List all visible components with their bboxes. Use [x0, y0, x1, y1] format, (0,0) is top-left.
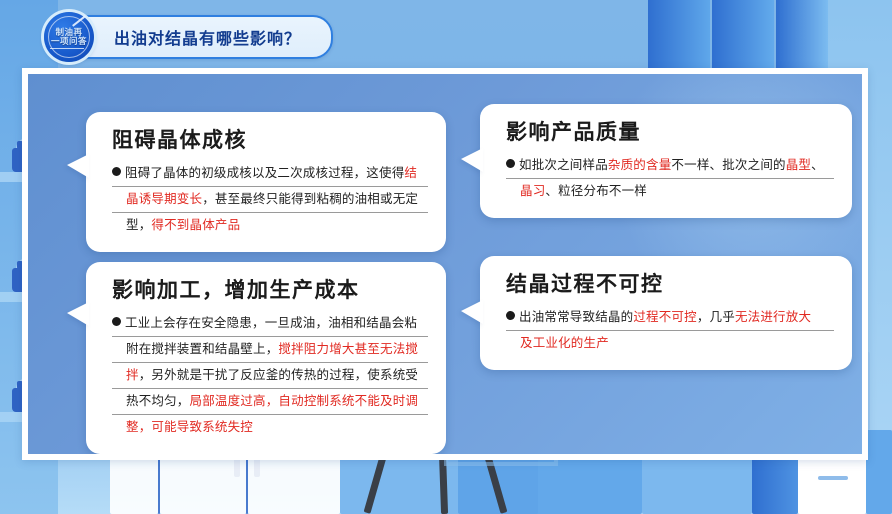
- highlighted-text: 无法进行放大: [735, 310, 811, 324]
- body-text: 附在搅拌装置和结晶壁上，: [126, 342, 278, 356]
- card-title: 影响加工，增加生产成本: [112, 274, 428, 304]
- highlighted-text: 局部温度过高，自动控制系统不能及时调: [190, 394, 419, 408]
- card-text-line: 工业上会存在安全隐患，一旦成油，油相和结晶会粘: [112, 311, 428, 337]
- card-title: 影响产品质量: [506, 116, 834, 146]
- card-text-line: 型，得不到晶体产品: [112, 213, 428, 238]
- highlighted-text: 晶型: [786, 158, 811, 172]
- highlighted-text: 晶诱导期变长: [126, 192, 202, 206]
- floor-panel: [110, 458, 158, 514]
- card-text-line: 附在搅拌装置和结晶壁上，搅拌阻力增大甚至无法搅: [112, 337, 428, 363]
- body-text: 不一样、批次之间的: [671, 158, 785, 172]
- body-text: 、粒径分布不一样: [545, 184, 647, 198]
- body-text: 型，: [126, 218, 151, 232]
- highlighted-text: 过程不可控: [633, 310, 697, 324]
- card-text-line: 热不均匀，局部温度过高，自动控制系统不能及时调: [112, 389, 428, 415]
- body-text: ，几乎: [697, 310, 735, 324]
- body-text: 出油常常导致结晶的: [519, 310, 633, 324]
- card-line-list: 阻碍了晶体的初级成核以及二次成核过程，这使得结晶诱导期变长，甚至最终只能得到粘稠…: [112, 161, 428, 238]
- floor-panel: [248, 458, 340, 514]
- badge-logo-line2: 一项问答: [51, 37, 87, 46]
- card-body: 阻碍了晶体的初级成核以及二次成核过程，这使得结晶诱导期变长，甚至最终只能得到粘稠…: [112, 161, 428, 238]
- card-text-line: 晶习、粒径分布不一样: [506, 179, 834, 204]
- cabinet-handle: [818, 476, 848, 480]
- highlighted-text: 杂质的含量: [608, 158, 672, 172]
- body-text: 、: [811, 158, 824, 172]
- brand-badge-icon: 制油再 一项问答: [44, 12, 94, 62]
- body-text: ，甚至最终只能得到粘稠的油相或无定: [202, 192, 418, 206]
- card-tail-icon: [461, 148, 483, 172]
- card-body: 出油常常导致结晶的过程不可控，几乎无法进行放大及工业化的生产: [506, 305, 834, 356]
- highlighted-text: 搅拌阻力增大甚至无法搅: [278, 342, 418, 356]
- badge-underline-icon: [50, 48, 84, 50]
- card-hinder-nucleation: 阻碍晶体成核 阻碍了晶体的初级成核以及二次成核过程，这使得结晶诱导期变长，甚至最…: [86, 112, 446, 252]
- floor-cabinet: [866, 430, 892, 514]
- highlighted-text: 及工业化的生产: [520, 336, 609, 350]
- card-tail-icon: [461, 300, 483, 324]
- card-body: 如批次之间样品杂质的含量不一样、批次之间的晶型、晶习、粒径分布不一样: [506, 153, 834, 204]
- bullet-icon: [506, 311, 515, 320]
- content-panel-frame: 阻碍晶体成核 阻碍了晶体的初级成核以及二次成核过程，这使得结晶诱导期变长，甚至最…: [22, 68, 868, 460]
- card-line-list: 出油常常导致结晶的过程不可控，几乎无法进行放大及工业化的生产: [506, 305, 834, 356]
- badge-logo-text: 制油再 一项问答: [51, 28, 87, 46]
- floor-panel: [160, 458, 246, 514]
- card-body: 工业上会存在安全隐患，一旦成油，油相和结晶会粘附在搅拌装置和结晶壁上，搅拌阻力增…: [112, 311, 428, 440]
- header-bar: 制油再 一项问答 出油对结晶有哪些影响？: [44, 14, 333, 60]
- card-tail-icon: [67, 302, 89, 326]
- card-text-line: 及工业化的生产: [506, 331, 834, 356]
- card-title: 结晶过程不可控: [506, 268, 834, 298]
- card-tail-icon: [67, 154, 89, 178]
- card-text-line: 阻碍了晶体的初级成核以及二次成核过程，这使得结: [112, 161, 428, 187]
- body-text: 如批次之间样品: [519, 158, 608, 172]
- card-line-list: 工业上会存在安全隐患，一旦成油，油相和结晶会粘附在搅拌装置和结晶壁上，搅拌阻力增…: [112, 311, 428, 440]
- bullet-icon: [506, 159, 515, 168]
- highlighted-text: 晶习: [520, 184, 545, 198]
- content-panel: 阻碍晶体成核 阻碍了晶体的初级成核以及二次成核过程，这使得结晶诱导期变长，甚至最…: [28, 74, 862, 454]
- highlighted-text: 整，可能导致系统失控: [126, 420, 253, 434]
- highlighted-text: 拌: [126, 368, 139, 382]
- page-title: 出油对结晶有哪些影响？: [114, 25, 301, 49]
- card-uncontrollable: 结晶过程不可控 出油常常导致结晶的过程不可控，几乎无法进行放大及工业化的生产: [480, 256, 852, 370]
- card-text-line: 拌，另外就是干扰了反应釜的传热的过程，使系统受: [112, 363, 428, 389]
- body-text: 工业上会存在安全隐患，一旦成油，油相和结晶会粘: [125, 316, 417, 330]
- card-text-line: 如批次之间样品杂质的含量不一样、批次之间的晶型、: [506, 153, 834, 179]
- card-product-quality: 影响产品质量 如批次之间样品杂质的含量不一样、批次之间的晶型、晶习、粒径分布不一…: [480, 104, 852, 218]
- body-text: 阻碍了晶体的初级成核以及二次成核过程，这使得: [125, 166, 404, 180]
- bullet-icon: [112, 167, 121, 176]
- card-title: 阻碍晶体成核: [112, 124, 428, 154]
- card-text-line: 整，可能导致系统失控: [112, 415, 428, 440]
- body-text: 热不均匀，: [126, 394, 190, 408]
- highlighted-text: 结: [404, 166, 417, 180]
- card-text-line: 晶诱导期变长，甚至最终只能得到粘稠的油相或无定: [112, 187, 428, 213]
- card-processing-cost: 影响加工，增加生产成本 工业上会存在安全隐患，一旦成油，油相和结晶会粘附在搅拌装…: [86, 262, 446, 454]
- card-line-list: 如批次之间样品杂质的含量不一样、批次之间的晶型、晶习、粒径分布不一样: [506, 153, 834, 204]
- card-text-line: 出油常常导致结晶的过程不可控，几乎无法进行放大: [506, 305, 834, 331]
- page-title-pill: 出油对结晶有哪些影响？: [68, 15, 333, 59]
- bullet-icon: [112, 317, 121, 326]
- body-text: ，另外就是干扰了反应釜的传热的过程，使系统受: [139, 368, 418, 382]
- highlighted-text: 得不到晶体产品: [151, 218, 240, 232]
